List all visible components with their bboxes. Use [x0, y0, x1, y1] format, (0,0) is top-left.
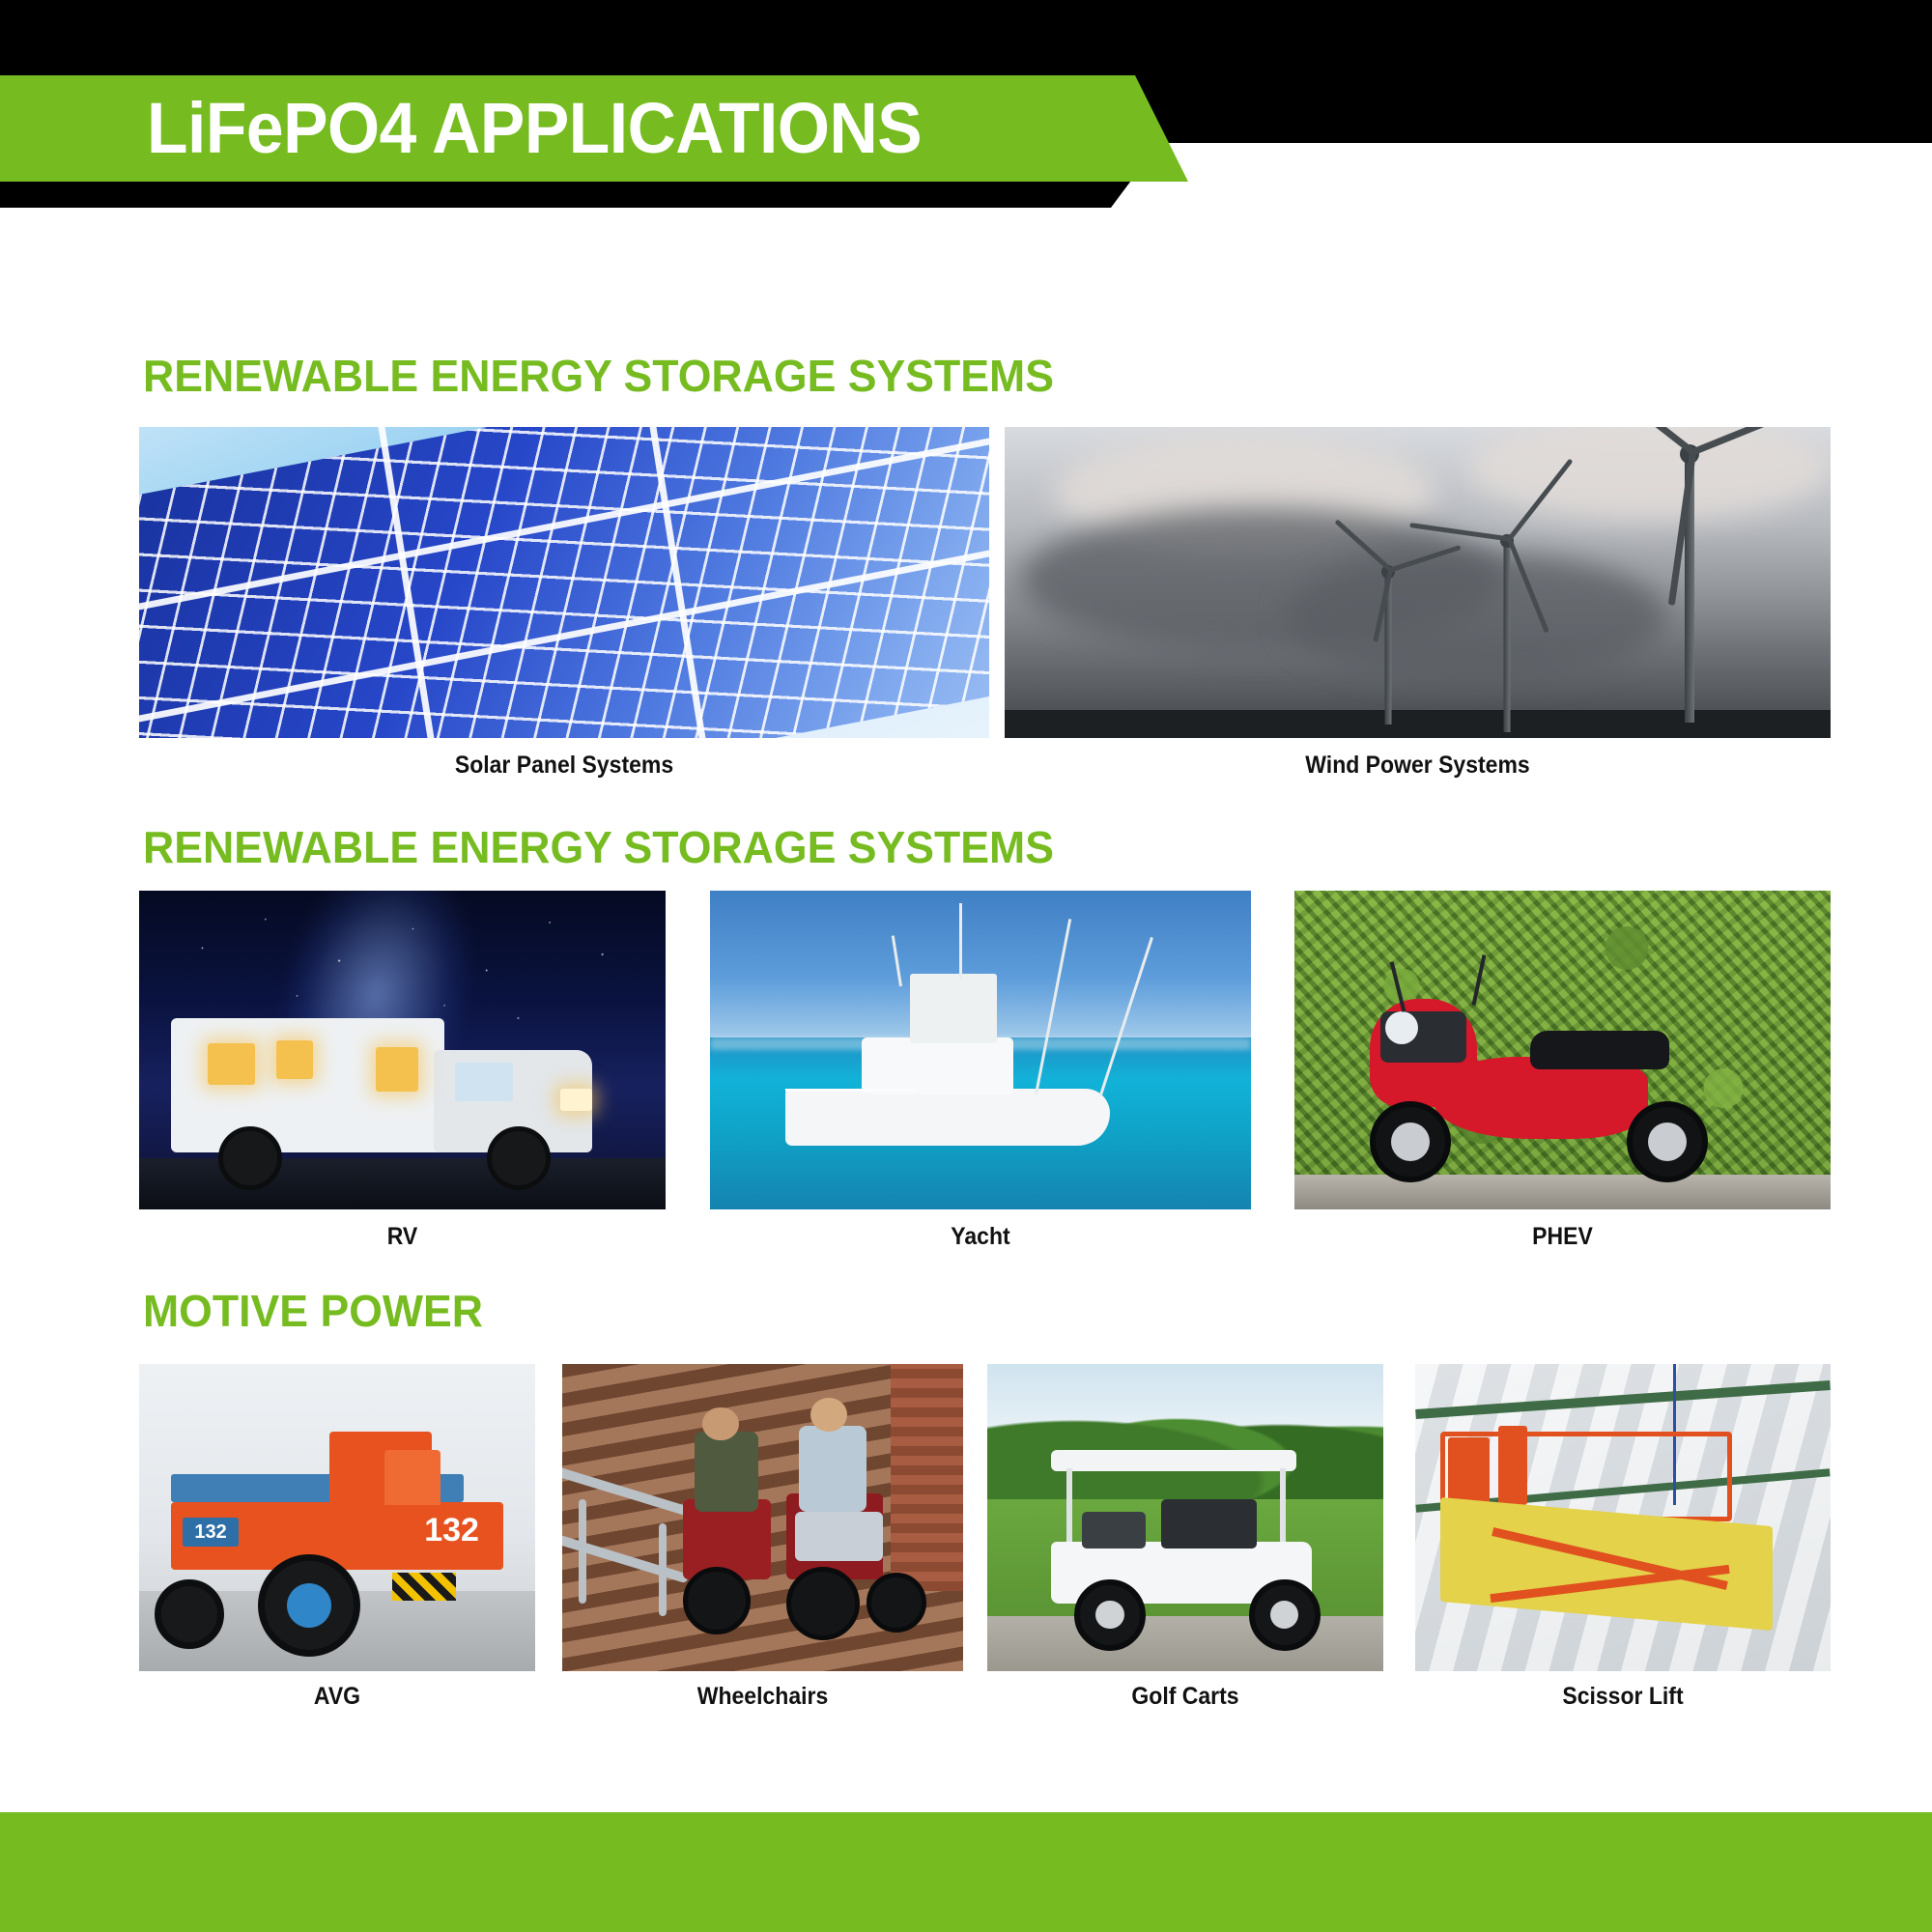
caption-golf-carts: Golf Carts: [1003, 1683, 1367, 1711]
section-1-image-row: Solar Panel Systems: [0, 427, 1932, 717]
card-golf-carts[interactable]: Golf Carts: [987, 1364, 1383, 1671]
industrial-transporter-icon: 132 132: [139, 1364, 535, 1671]
section-title-renewable-1: RENEWABLE ENERGY STORAGE SYSTEMS: [143, 350, 1878, 402]
section-title-motive-power: MOTIVE POWER: [143, 1285, 1878, 1337]
image-wheelchairs: [562, 1364, 963, 1671]
header-green-banner: LiFePO4 APPLICATIONS: [0, 75, 1188, 182]
wind-turbine-icon: [1005, 427, 1831, 738]
rv-icon: [139, 891, 666, 1209]
scooter-icon: [1294, 891, 1831, 1209]
avg-rear-number: 132: [424, 1512, 479, 1549]
image-avg: 132 132: [139, 1364, 535, 1671]
card-wind-power-systems[interactable]: Wind Power Systems: [1005, 427, 1831, 738]
avg-side-plate: 132: [183, 1518, 239, 1547]
card-rv[interactable]: RV: [139, 891, 666, 1209]
card-wheelchairs[interactable]: Wheelchairs: [562, 1364, 963, 1671]
caption-avg: AVG: [155, 1683, 519, 1711]
caption-rv: RV: [160, 1223, 644, 1251]
image-golf-carts: [987, 1364, 1383, 1671]
powered-wheelchair-icon: [562, 1364, 963, 1671]
image-phev: [1294, 891, 1831, 1209]
caption-phev: PHEV: [1316, 1223, 1809, 1251]
scissor-lift-icon: [1415, 1364, 1831, 1671]
section-renewable-energy-2: RENEWABLE ENERGY STORAGE SYSTEMS: [0, 821, 1932, 873]
card-yacht[interactable]: Yacht: [710, 891, 1251, 1209]
caption-yacht: Yacht: [731, 1223, 1229, 1251]
caption-solar-panel-systems: Solar Panel Systems: [173, 752, 955, 780]
page-title: LiFePO4 APPLICATIONS: [147, 93, 922, 164]
page-header: LiFePO4 APPLICATIONS: [0, 0, 1932, 208]
card-scissor-lift[interactable]: Scissor Lift: [1415, 1364, 1831, 1671]
image-solar-panel-systems: [139, 427, 989, 738]
image-rv: [139, 891, 666, 1209]
section-3-image-row: 132 132 AVG: [0, 1364, 1932, 1683]
card-avg[interactable]: 132 132 AVG: [139, 1364, 535, 1671]
card-solar-panel-systems[interactable]: Solar Panel Systems: [139, 427, 989, 738]
section-renewable-energy-1: RENEWABLE ENERGY STORAGE SYSTEMS: [0, 350, 1932, 402]
caption-wind-power-systems: Wind Power Systems: [1037, 752, 1798, 780]
caption-scissor-lift: Scissor Lift: [1432, 1683, 1814, 1711]
image-wind-power-systems: [1005, 427, 1831, 738]
caption-wheelchairs: Wheelchairs: [579, 1683, 948, 1711]
header-black-block-right: [1072, 0, 1932, 143]
golf-cart-icon: [987, 1364, 1383, 1671]
yacht-icon: [710, 891, 1251, 1209]
footer-green-bar: [0, 1812, 1932, 1932]
section-motive-power: MOTIVE POWER: [0, 1285, 1932, 1337]
image-scissor-lift: [1415, 1364, 1831, 1671]
card-phev[interactable]: PHEV: [1294, 891, 1831, 1209]
section-2-image-row: RV Yacht: [0, 891, 1932, 1209]
section-title-renewable-2: RENEWABLE ENERGY STORAGE SYSTEMS: [143, 821, 1878, 873]
solar-panel-icon: [139, 427, 989, 738]
image-yacht: [710, 891, 1251, 1209]
